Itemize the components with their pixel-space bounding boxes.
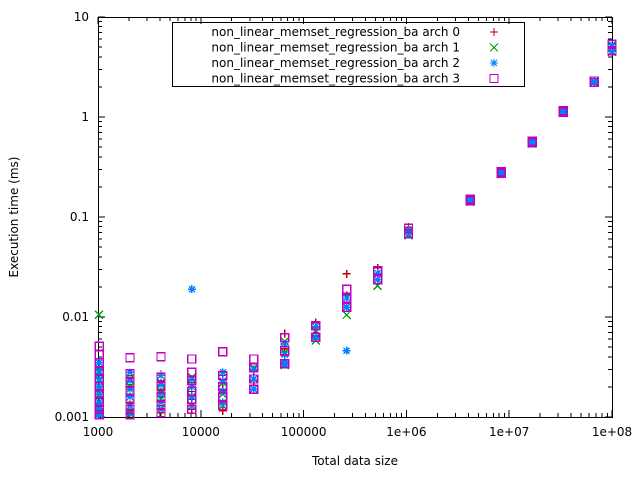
x-tick-label: 1e+06 (386, 425, 426, 439)
data-point-series-1 (95, 311, 103, 319)
data-point-series-2 (343, 303, 351, 311)
x-tick-label: 100000 (281, 425, 327, 439)
x-tick-label: 1e+07 (489, 425, 529, 439)
data-point-series-2 (343, 294, 351, 302)
x-tick-label: 1000 (83, 425, 114, 439)
x-tick-label: 1e+08 (592, 425, 632, 439)
y-tick-label: 0.01 (62, 310, 89, 324)
x-tick-label: 10000 (182, 425, 220, 439)
data-point-series-3 (95, 342, 103, 350)
data-point-series-3 (95, 351, 103, 359)
legend-marker-0 (490, 28, 498, 36)
y-tick-label: 10 (74, 10, 89, 24)
data-point-series-2 (219, 398, 227, 406)
data-point-series-2 (95, 359, 103, 367)
legend-label-1: non_linear_memset_regression_ba arch 1 (211, 41, 460, 55)
data-point-series-2 (250, 385, 258, 393)
y-tick-label: 0.001 (55, 410, 89, 424)
data-point-series-2 (219, 368, 227, 376)
y-tick-label: 0.1 (70, 210, 89, 224)
legend-marker-1 (490, 44, 498, 52)
data-point-series-0 (343, 270, 351, 278)
legend-label-0: non_linear_memset_regression_ba arch 0 (211, 25, 460, 39)
data-point-series-2 (95, 375, 103, 383)
data-point-series-1 (343, 311, 351, 319)
legend-marker-3 (490, 75, 498, 83)
data-point-series-2 (157, 381, 165, 389)
y-tick-label: 1 (81, 110, 89, 124)
plot-canvas: 1010.10.010.0011000100001000001e+061e+07… (0, 0, 640, 480)
data-point-series-2 (157, 398, 165, 406)
data-point-series-3 (188, 355, 196, 363)
gnuplot-chart: 1010.10.010.0011000100001000001e+061e+07… (0, 0, 640, 480)
data-point-series-3 (126, 354, 134, 362)
data-point-series-2 (95, 367, 103, 375)
data-point-series-2 (188, 393, 196, 401)
data-point-series-2 (126, 393, 134, 401)
data-point-series-2 (219, 377, 227, 385)
data-point-series-2 (312, 333, 320, 341)
data-point-series-2 (374, 276, 382, 284)
data-point-series-3 (250, 355, 258, 363)
data-point-series-3 (157, 353, 165, 361)
legend-label-2: non_linear_memset_regression_ba arch 2 (211, 56, 460, 70)
x-axis-title: Total data size (311, 454, 398, 468)
data-point-series-2 (250, 375, 258, 383)
data-point-series-3 (219, 348, 227, 356)
legend-marker-2 (490, 59, 498, 67)
data-point-series-2 (343, 347, 351, 355)
y-axis-title: Execution time (ms) (7, 157, 21, 278)
legend-label-3: non_linear_memset_regression_ba arch 3 (211, 72, 460, 86)
data-point-series-2 (188, 285, 196, 293)
